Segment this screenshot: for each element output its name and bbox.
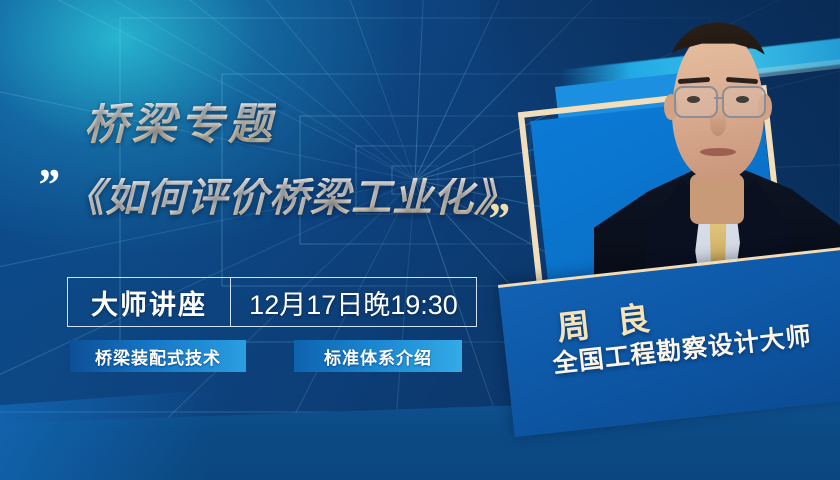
page-title: 桥梁专题 [84, 103, 276, 147]
portrait-mouth [700, 148, 736, 156]
lecture-datetime-label: 12月17日晚19:30 [249, 283, 458, 322]
lecture-info-bar: 大师讲座 12月17日晚19:30 [67, 277, 477, 327]
portrait-glasses-bridge [714, 97, 724, 99]
portrait-neck [690, 174, 744, 224]
tag-spacer [246, 340, 294, 372]
topic-tag: 桥梁装配式技术 [70, 340, 246, 372]
speaker-photo-zone: 周 良 全国工程勘察设计大师 [498, 0, 840, 480]
portrait-glasses-right [722, 86, 766, 118]
poster-canvas: ” 桥梁专题 《如何评价桥梁工业化》 ” 大师讲座 12月17日晚19:30 桥… [0, 0, 840, 480]
lecture-type-cell: 大师讲座 [68, 278, 231, 326]
page-subtitle: 《如何评价桥梁工业化》 [64, 178, 515, 218]
lecture-datetime-cell: 12月17日晚19:30 [231, 278, 476, 326]
lecture-type-label: 大师讲座 [91, 283, 207, 322]
quote-open-icon: ” [36, 162, 59, 208]
topic-tag-list: 桥梁装配式技术 标准体系介绍 [70, 340, 462, 372]
topic-tag: 标准体系介绍 [294, 340, 462, 372]
portrait-nose [710, 110, 726, 136]
